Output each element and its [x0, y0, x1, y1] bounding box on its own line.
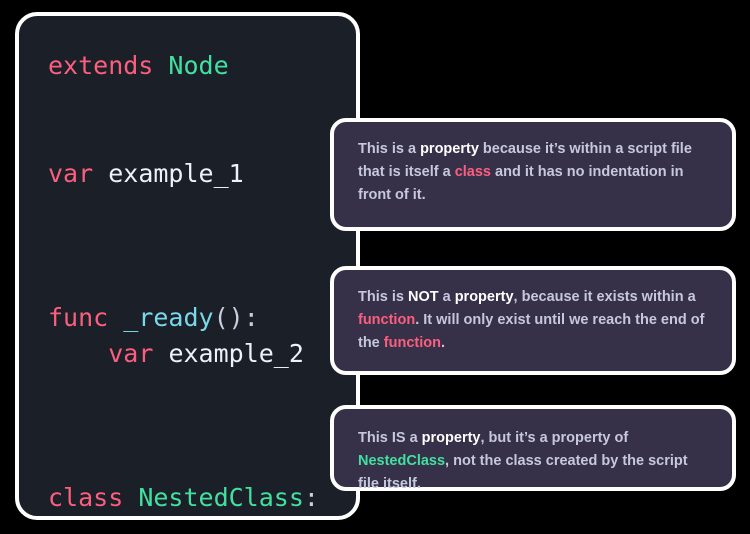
callout-segment-normal: , because it exists within a [514, 289, 696, 305]
code-token-punctuation: (): [214, 303, 259, 332]
code-token-space [153, 519, 168, 520]
callout-segment-bold: property [422, 430, 481, 446]
callout-segment-keyword-red: class [455, 164, 491, 180]
callout-segment-bold: property [420, 141, 479, 157]
code-token-keyword: var [48, 159, 93, 188]
code-token-space [93, 159, 108, 188]
callout-property-explanation: This is a property because it’s within a… [330, 118, 736, 231]
callout-nested-property-explanation: This IS a property, but it’s a property … [330, 405, 736, 491]
diagram-canvas: extends Nodevar example_1func _ready(): … [0, 0, 750, 534]
code-block: extends Nodevar example_1func _ready(): … [48, 48, 356, 520]
code-line-blank [48, 408, 356, 444]
code-line: extends Node [48, 48, 356, 84]
code-indent [48, 339, 108, 368]
code-token-identifier: example_3 [168, 519, 303, 520]
callout-segment-normal: This is [358, 289, 408, 305]
code-token-type: NestedClass [138, 483, 304, 512]
code-line: class NestedClass: [48, 480, 356, 516]
callout-not-property-explanation: This is NOT a property, because it exist… [330, 266, 736, 375]
callout-3-text: This IS a property, but it’s a property … [358, 430, 688, 492]
callout-segment-normal: , but it’s a property of [481, 430, 629, 446]
code-token-space [153, 339, 168, 368]
code-line: var example_2 [48, 336, 356, 372]
callout-segment-type-green: NestedClass [358, 453, 445, 469]
code-token-function: _ready [123, 303, 213, 332]
callout-segment-keyword-red: function [358, 312, 415, 328]
code-token-space [108, 303, 123, 332]
code-token-keyword: extends [48, 51, 153, 80]
callout-segment-bold: NOT [408, 289, 439, 305]
code-line-blank [48, 264, 356, 300]
code-line: var example_3 [48, 516, 356, 520]
code-token-keyword: class [48, 483, 123, 512]
code-token-keyword: func [48, 303, 108, 332]
callout-2-text: This is NOT a property, because it exist… [358, 289, 704, 351]
code-token-identifier: example_2 [168, 339, 303, 368]
code-token-keyword: var [108, 519, 153, 520]
code-token-keyword: var [108, 339, 153, 368]
code-line-blank [48, 120, 356, 156]
callout-segment-normal: a [439, 289, 455, 305]
code-line-blank [48, 192, 356, 228]
callout-segment-normal: This IS a [358, 430, 422, 446]
code-token-identifier: example_1 [108, 159, 243, 188]
code-indent [48, 519, 108, 520]
code-line-blank [48, 228, 356, 264]
code-token-space [153, 51, 168, 80]
code-line-blank [48, 84, 356, 120]
code-line: var example_1 [48, 156, 356, 192]
code-line-blank [48, 444, 356, 480]
code-token-type: Node [168, 51, 228, 80]
callout-segment-bold: property [455, 289, 514, 305]
callout-segment-keyword-red: function [384, 335, 441, 351]
code-line-blank [48, 372, 356, 408]
callout-1-text: This is a property because it’s within a… [358, 141, 692, 203]
code-line: func _ready(): [48, 300, 356, 336]
code-token-space [123, 483, 138, 512]
code-panel: extends Nodevar example_1func _ready(): … [15, 12, 360, 520]
code-token-punctuation: : [304, 483, 319, 512]
callout-segment-normal: . [441, 335, 445, 351]
callout-segment-normal: This is a [358, 141, 420, 157]
